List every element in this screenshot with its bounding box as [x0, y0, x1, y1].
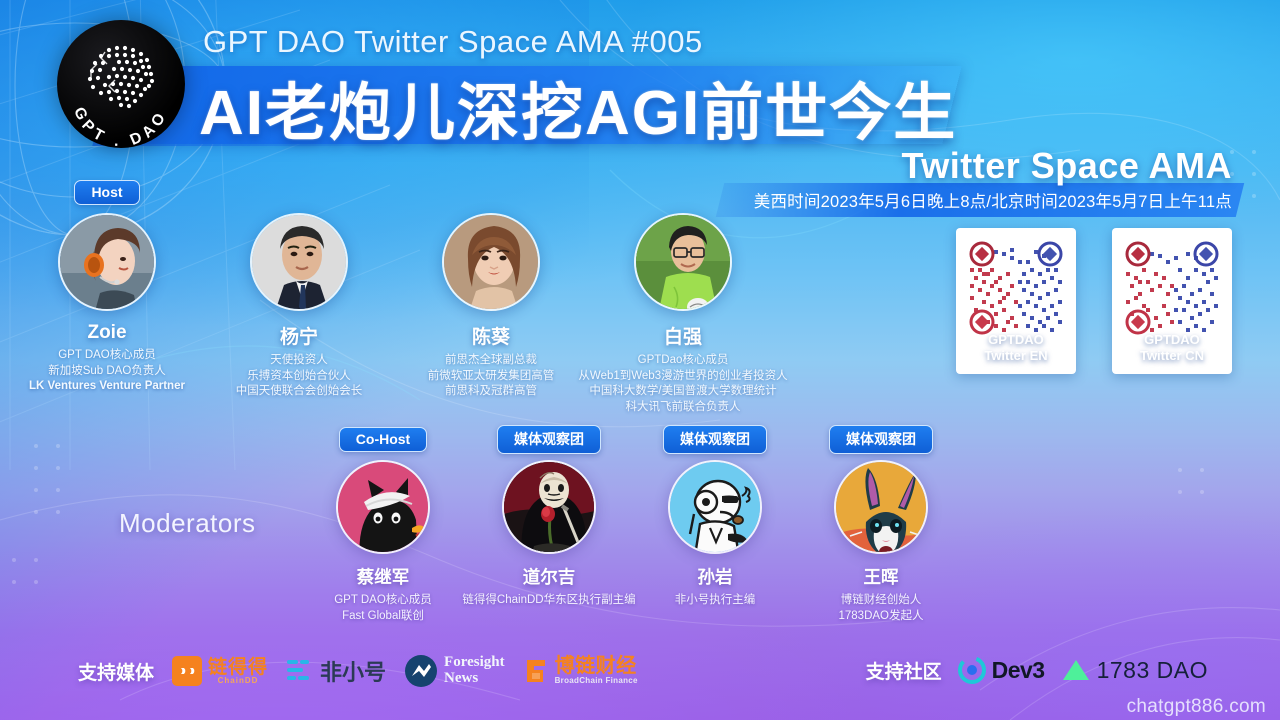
moderator-bio: 链得得ChainDD华东区执行副主编 [462, 593, 635, 609]
bio-line: LK Ventures Venture Partner [29, 379, 185, 395]
qr-label-line2: Twitter CN [1140, 348, 1204, 364]
bio-line: GPTDao核心成员 [578, 353, 787, 369]
speaker-card: 白强 GPTDao核心成员 从Web1到Web3漫游世界的创业者投资人 中国科大… [598, 180, 768, 415]
dev3-mark-icon [958, 656, 986, 684]
qr-label-line2: Twitter EN [984, 348, 1047, 364]
speaker-bio: 天使投资人 乐搏资本创始合伙人 中国天使联合会创始会长 [236, 353, 363, 400]
foresight-logo-text: Foresight [444, 655, 505, 671]
bio-line: 中国科大数学/美国普渡大学数理统计 [578, 384, 787, 400]
avatar-wanghui [834, 460, 928, 554]
bio-line: 科大讯飞前联合负责人 [578, 400, 787, 416]
moderator-card: 媒体观察团 孙岩 [632, 428, 798, 624]
qr-label-line1: GPTDAO [984, 332, 1047, 348]
avatar-daoerji [502, 460, 596, 554]
watermark: chatgpt886.com [1127, 696, 1266, 718]
moderators-section: Co-Host 蔡继军 [300, 428, 964, 624]
foresight-logo-subtext: News [444, 671, 505, 687]
speaker-card: Host [22, 180, 192, 415]
bio-line: 乐搏资本创始合伙人 [236, 369, 363, 385]
avatar-zoie [58, 213, 156, 311]
broadchain-finance-logo: 博链财经 BroadChain Finance [523, 656, 638, 686]
moderator-bio: GPT DAO核心成员 Fast Global联创 [334, 593, 432, 624]
kicker-text: GPT DAO Twitter Space AMA #005 [203, 24, 703, 60]
poster-canvas: GPT . DAO GPT DAO Twitter Space AMA #005… [0, 0, 1280, 720]
svg-text:GPT . DAO: GPT . DAO [70, 105, 171, 148]
qr-label-line1: GPTDAO [1140, 332, 1204, 348]
moderators-section-label: Moderators [119, 508, 256, 539]
moderator-name: 王晖 [864, 564, 899, 589]
chaindd-mark-icon [172, 656, 202, 686]
subtitle-text: Twitter Space AMA [901, 145, 1232, 187]
bio-line: 博链财经创始人 [838, 593, 923, 609]
bio-line: 前思杰全球副总裁 [428, 353, 555, 369]
supporting-media-label: 支持媒体 [78, 658, 154, 685]
feixiaohao-logo-text: 非小号 [320, 655, 386, 687]
bio-line: 中国天使联合会创始会长 [236, 384, 363, 400]
bio-line: 新加坡Sub DAO负责人 [29, 364, 185, 380]
feixiaohao-mark-icon [286, 658, 314, 684]
moderator-card: 媒体观察团 [466, 428, 632, 624]
moderator-card: Co-Host 蔡继军 [300, 428, 466, 624]
speakers-section: Host [0, 180, 840, 415]
moderator-name: 道尔吉 [523, 564, 576, 589]
moderator-bio: 非小号执行主编 [675, 593, 756, 609]
status-badge: Co-Host [339, 427, 427, 452]
bio-line: Fast Global联创 [334, 609, 432, 625]
chaindd-logo: 链得得 ChainDD [172, 656, 268, 686]
avatar-sunyan [668, 460, 762, 554]
chaindd-logo-text: 链得得 [208, 658, 268, 677]
status-badge: 媒体观察团 [829, 425, 933, 454]
foresight-mark-icon [404, 654, 438, 688]
bio-line: 1783DAO发起人 [838, 609, 923, 625]
feixiaohao-logo: 非小号 [286, 655, 386, 687]
bio-line: 前微软亚太研发集团高管 [428, 369, 555, 385]
speaker-card: 杨宁 天使投资人 乐搏资本创始合伙人 中国天使联合会创始会长 [214, 180, 384, 415]
speaker-name: 陈葵 [472, 322, 510, 349]
bio-line: 从Web1到Web3漫游世界的创业者投资人 [578, 369, 787, 385]
status-badge: 媒体观察团 [497, 425, 601, 454]
status-badge: 媒体观察团 [663, 425, 767, 454]
avatar-baiqiang [634, 213, 732, 311]
dev3-logo: Dev3 [958, 656, 1045, 684]
bio-line: 链得得ChainDD华东区执行副主编 [462, 593, 635, 609]
moderator-card: 媒体观察团 [798, 428, 964, 624]
qr-code-section: GPTDAO Twitter EN [956, 228, 1232, 365]
broadchain-mark-icon [523, 656, 549, 686]
dev3-logo-text: Dev3 [992, 657, 1045, 684]
supporting-community-group: 支持社区 Dev3 1783 DAO [866, 656, 1208, 684]
speaker-name: Zoie [87, 322, 126, 344]
supporting-media-group: 支持媒体 链得得 ChainDD [78, 654, 638, 688]
footer: 支持媒体 链得得 ChainDD [0, 642, 1280, 720]
page-title: AI老炮儿深挖AGI前世今生 [199, 62, 957, 152]
avatar-caijijun [336, 460, 430, 554]
bio-line: 前思科及冠群高管 [428, 384, 555, 400]
avatar-yangning [250, 213, 348, 311]
qr-twitter-en[interactable]: GPTDAO Twitter EN [956, 228, 1076, 365]
supporting-community-label: 支持社区 [866, 657, 942, 684]
bio-line: 非小号执行主编 [675, 593, 756, 609]
speaker-card: 陈葵 前思杰全球副总裁 前微软亚太研发集团高管 前思科及冠群高管 [406, 180, 576, 415]
bio-line: GPT DAO核心成员 [29, 348, 185, 364]
speaker-bio: GPTDao核心成员 从Web1到Web3漫游世界的创业者投资人 中国科大数学/… [578, 353, 787, 415]
moderator-name: 蔡继军 [357, 564, 410, 589]
1783-dao-logo: 1783 DAO [1061, 657, 1208, 684]
speaker-bio: GPT DAO核心成员 新加坡Sub DAO负责人 LK Ventures Ve… [29, 348, 185, 395]
speaker-name: 杨宁 [280, 322, 318, 349]
broadchain-logo-text: 博链财经 [555, 656, 638, 677]
triangle-icon [1061, 657, 1091, 683]
qr-label: GPTDAO Twitter EN [984, 332, 1047, 365]
moderator-bio: 博链财经创始人 1783DAO发起人 [838, 593, 923, 624]
qr-twitter-cn[interactable]: GPTDAO Twitter CN [1112, 228, 1232, 365]
chaindd-logo-subtext: ChainDD [208, 677, 268, 685]
avatar-chenkui [442, 213, 540, 311]
foresight-news-logo: Foresight News [404, 654, 505, 688]
1783-dao-logo-text: 1783 DAO [1097, 657, 1208, 684]
speaker-bio: 前思杰全球副总裁 前微软亚太研发集团高管 前思科及冠群高管 [428, 353, 555, 400]
broadchain-logo-subtext: BroadChain Finance [555, 677, 638, 685]
gpt-dao-logo: GPT . DAO [57, 20, 185, 148]
bio-line: GPT DAO核心成员 [334, 593, 432, 609]
moderator-name: 孙岩 [698, 564, 733, 589]
status-badge: Host [74, 180, 139, 205]
speaker-name: 白强 [664, 322, 702, 349]
bio-line: 天使投资人 [236, 353, 363, 369]
qr-label: GPTDAO Twitter CN [1140, 332, 1204, 365]
